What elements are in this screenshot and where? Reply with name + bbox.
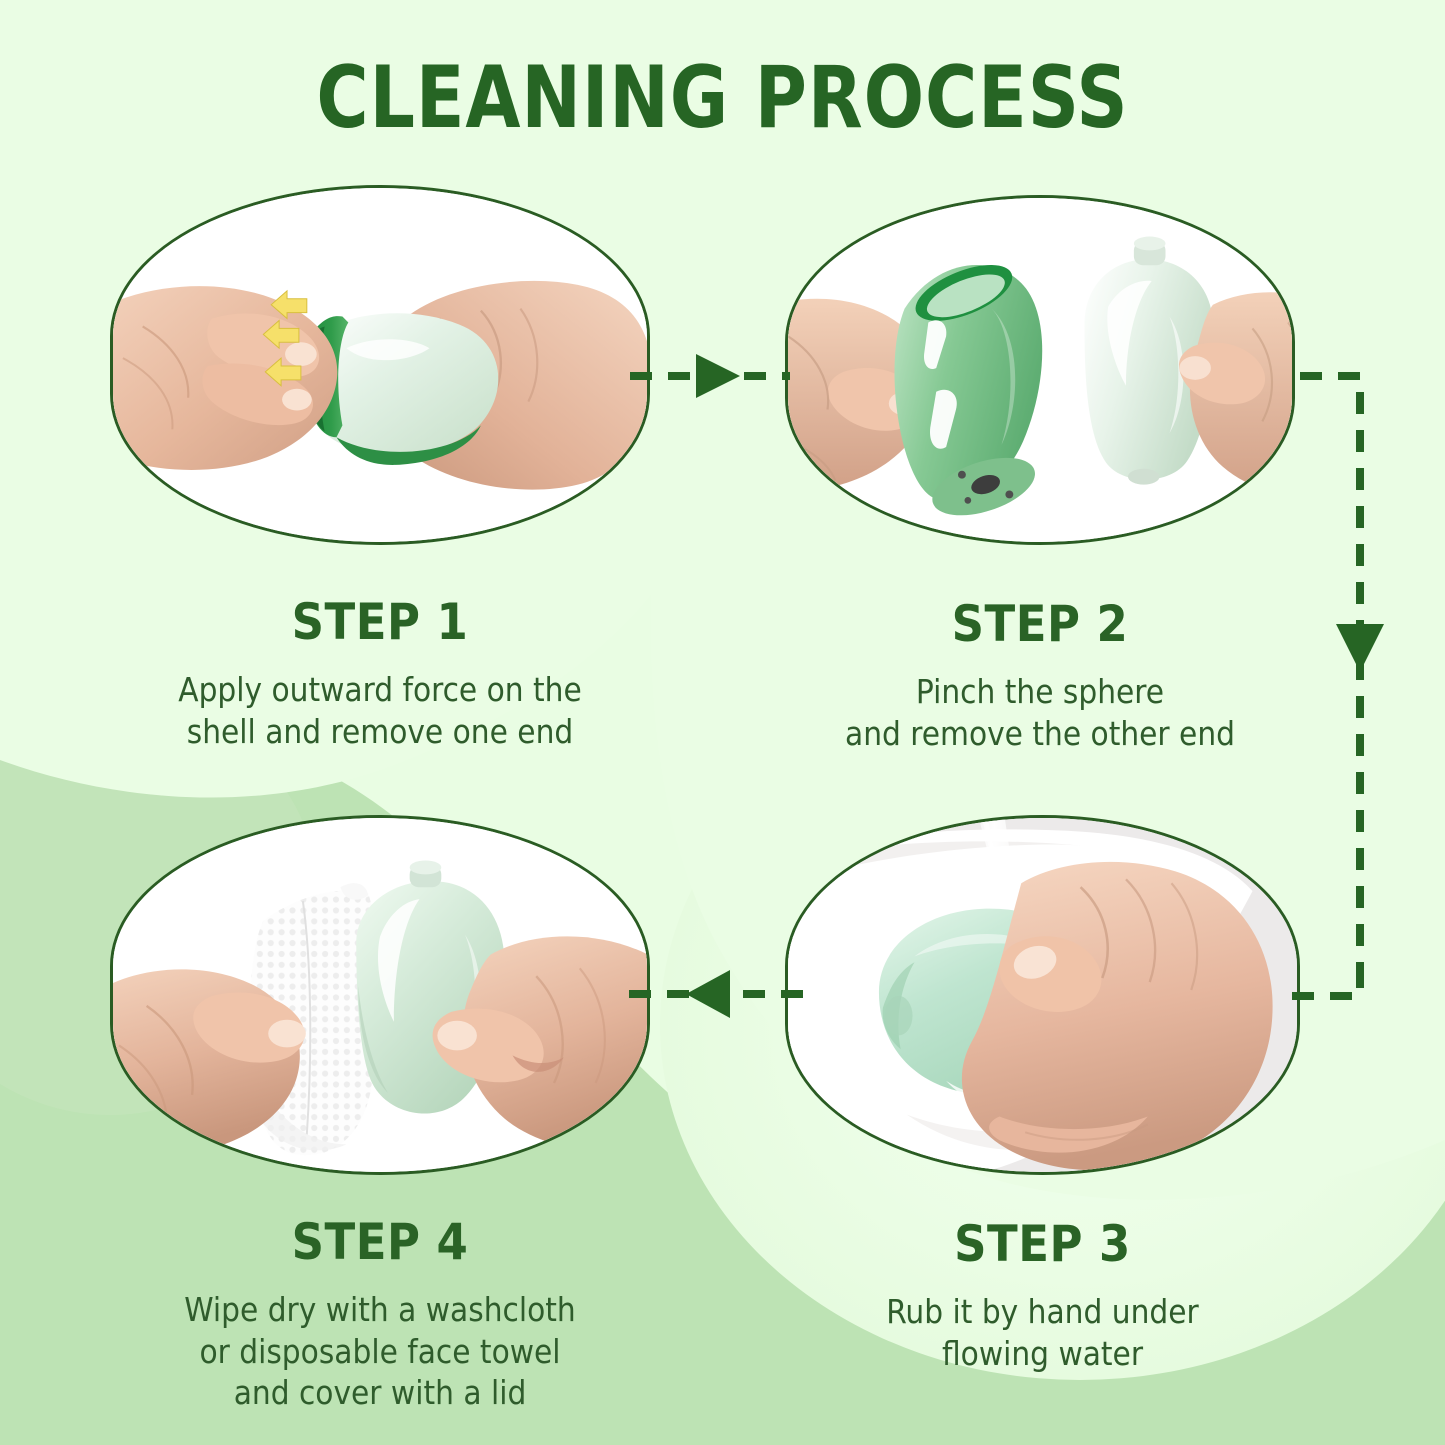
arrow-down-icon (1336, 624, 1384, 672)
step-1-photo-frame (110, 185, 650, 545)
step-1-caption: Apply outward force on the shell and rem… (110, 669, 650, 752)
step-card-1: STEP 1 Apply outward force on the shell … (110, 185, 650, 752)
page-title: CLEANING PROCESS (58, 48, 1387, 148)
step-3-caption: Rub it by hand under flowing water (785, 1291, 1300, 1374)
connector-1-to-2 (630, 348, 790, 404)
step-card-3: STEP 3 Rub it by hand under flowing wate… (785, 815, 1300, 1374)
step-4-photo-frame (110, 815, 650, 1175)
step-1-label: STEP 1 (110, 593, 650, 651)
step-1-photo (113, 188, 647, 544)
step-3-photo (788, 818, 1297, 1174)
connector-3-to-4 (618, 965, 803, 1023)
step-card-2: STEP 2 Pinch the sphere and remove the o… (785, 195, 1295, 754)
step-2-label: STEP 2 (785, 595, 1295, 653)
step-4-caption: Wipe dry with a washcloth or disposable … (110, 1289, 650, 1414)
step-card-4: STEP 4 Wipe dry with a washcloth or disp… (110, 815, 650, 1414)
infographic-canvas: CLEANING PROCESS (0, 0, 1445, 1445)
arrow-right-icon (696, 354, 740, 398)
connector-2-to-3-elbow (1300, 966, 1430, 1026)
connector-2-to-3-line (1300, 376, 1360, 997)
arrow-left-icon (686, 970, 730, 1018)
connector-2-to-3 (1300, 352, 1430, 1002)
step-3-photo-frame (785, 815, 1300, 1175)
step-2-photo (788, 198, 1292, 544)
step-2-photo-frame (785, 195, 1295, 545)
connector-2-to-3-elbow-line (1290, 966, 1360, 996)
step-2-caption: Pinch the sphere and remove the other en… (785, 671, 1295, 754)
step-4-photo (113, 818, 647, 1174)
step-4-label: STEP 4 (110, 1213, 650, 1271)
step-3-label: STEP 3 (785, 1215, 1300, 1273)
